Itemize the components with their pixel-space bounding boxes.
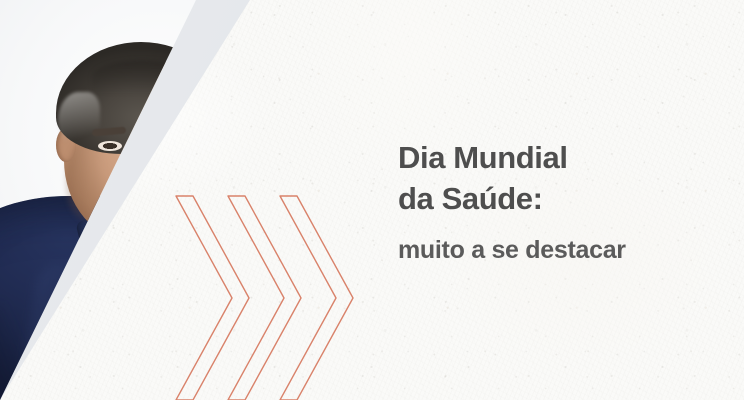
promotional-banner: Hospital Lefort te al Dia Mundial da Saú… — [0, 0, 744, 400]
headline-line-1: Dia Mundial — [398, 138, 718, 179]
hair-grey-temple-left — [58, 92, 100, 150]
headline-line-2: da Saúde: — [398, 179, 718, 220]
headline-line-3: muito a se destacar — [398, 234, 718, 267]
eye-left — [98, 141, 122, 151]
headline-block: Dia Mundial da Saúde: muito a se destaca… — [398, 138, 718, 266]
